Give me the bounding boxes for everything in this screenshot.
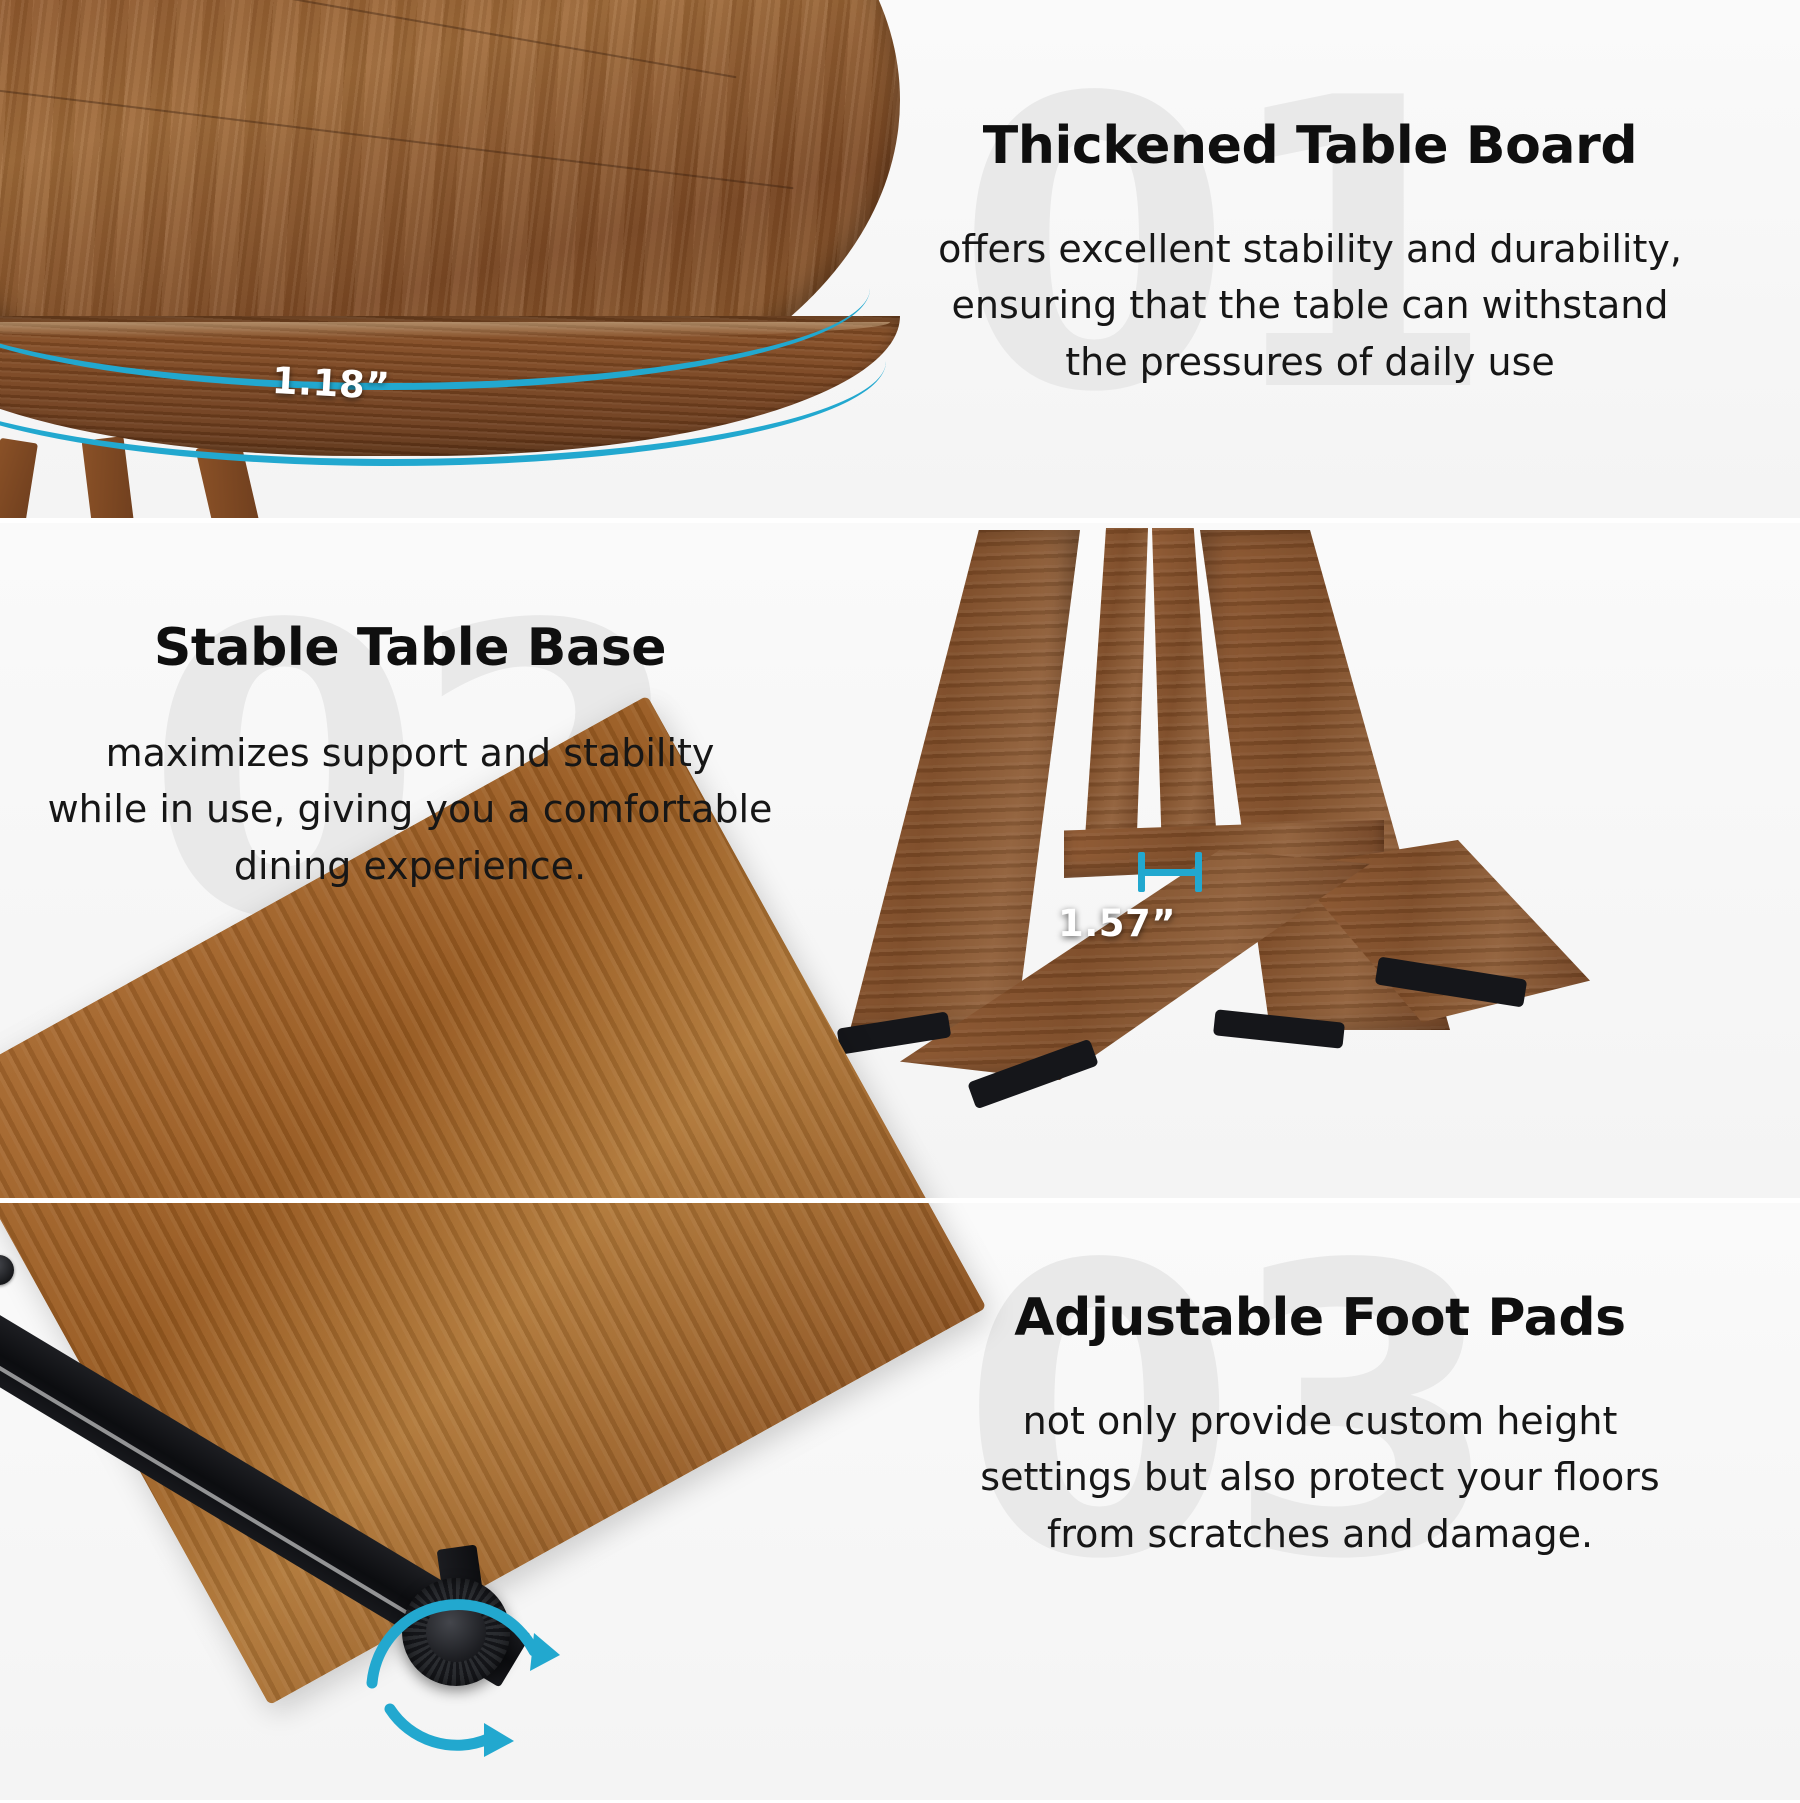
feature-headline-02: Stable Table Base bbox=[10, 620, 810, 677]
body-line: while in use, giving you a comfortable bbox=[10, 781, 810, 837]
infographic-sheet: 01 1.18” Thickened Table Board offers ex… bbox=[0, 0, 1800, 1800]
feature-body-01: offers excellent stability and durabilit… bbox=[830, 221, 1790, 390]
feature-body-02: maximizes support and stability while in… bbox=[10, 725, 810, 894]
dimension-label-thickness: 1.18” bbox=[271, 359, 391, 408]
dimension-h-bracket-icon bbox=[1138, 852, 1202, 892]
panel-divider bbox=[0, 518, 1800, 523]
body-line: ensuring that the table can withstand bbox=[830, 277, 1790, 333]
body-line: not only provide custom height bbox=[840, 1393, 1800, 1449]
body-line: the pressures of daily use bbox=[830, 334, 1790, 390]
body-line: maximizes support and stability bbox=[10, 725, 810, 781]
feature-text-02: Stable Table Base maximizes support and … bbox=[10, 620, 810, 894]
body-line: settings but also protect your floors bbox=[840, 1449, 1800, 1505]
screw-icon bbox=[0, 1255, 14, 1285]
foot-pad-photo bbox=[0, 1203, 760, 1803]
base-inner-upright-left bbox=[1078, 528, 1148, 838]
dimension-label-base-thickness: 1.57” bbox=[1058, 902, 1176, 945]
feature-text-03: Adjustable Foot Pads not only provide cu… bbox=[840, 1290, 1800, 1562]
table-leg bbox=[0, 438, 38, 518]
feature-panel-01: 01 1.18” Thickened Table Board offers ex… bbox=[0, 0, 1800, 518]
panel-divider bbox=[0, 1198, 1800, 1203]
dimension-bracket-icon bbox=[0, 336, 886, 466]
feature-headline-03: Adjustable Foot Pads bbox=[840, 1290, 1800, 1347]
feature-body-03: not only provide custom height settings … bbox=[840, 1393, 1800, 1562]
rotation-arrow-icon bbox=[338, 1533, 578, 1773]
table-top-photo: 1.18” bbox=[0, 0, 960, 518]
body-line: offers excellent stability and durabilit… bbox=[830, 221, 1790, 277]
base-left-leg bbox=[850, 530, 1080, 1030]
feature-headline-01: Thickened Table Board bbox=[830, 118, 1790, 175]
table-base-photo: 1.57” bbox=[820, 520, 1800, 1200]
feature-text-01: Thickened Table Board offers excellent s… bbox=[830, 118, 1790, 390]
body-line: from scratches and damage. bbox=[840, 1506, 1800, 1562]
body-line: dining experience. bbox=[10, 838, 810, 894]
